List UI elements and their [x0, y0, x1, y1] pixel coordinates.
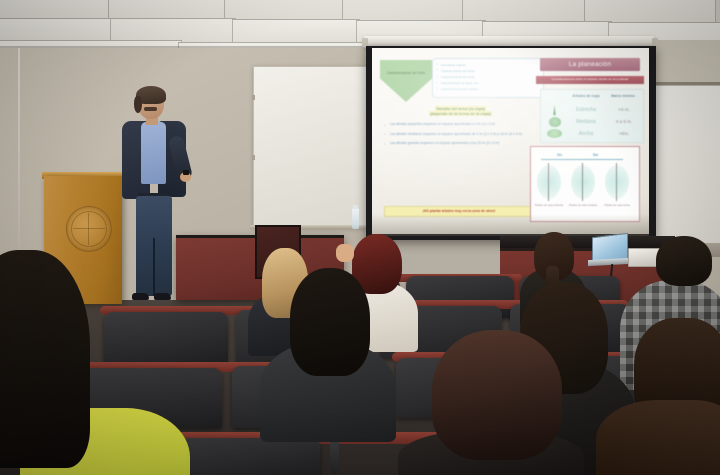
presentation-clicker [183, 170, 189, 175]
site-factors-list: Normativa vigente Características del cl… [436, 62, 540, 92]
table-row: Mediana 4 a 6 m. [541, 116, 643, 128]
presenter-mustache [144, 107, 157, 111]
diagram-dimension-label: 5m [593, 153, 598, 157]
presenter [110, 88, 202, 318]
crown-size-heading-line2: (depende de la forma de la copa) [429, 111, 492, 116]
bottle-cap-icon [353, 205, 358, 209]
armrest [330, 440, 339, 474]
crown-spacing-table: Árboles de copa Marco mínimo Estrecha <4… [540, 89, 644, 143]
warning-callout: ¡NO plantar árboles muy cerca unos de ot… [384, 206, 534, 217]
wall-right-whiteboard [652, 85, 720, 245]
table-row: Estrecha <4 m. [541, 104, 643, 116]
attendee-hair [0, 250, 90, 468]
site-factors-box: Normativa vigente Características del cl… [432, 58, 544, 98]
diagram-caption: Árboles de copa ancha [602, 204, 632, 207]
diagram-dimension-label: 5m [557, 153, 562, 157]
institutional-seal [66, 206, 112, 252]
attendee-hair [596, 400, 720, 475]
wide-tree-icon [547, 129, 562, 138]
spacing-bullets: Los árboles pequeños requieren un espaci… [384, 122, 534, 151]
table-cell-crown: Ancha [563, 128, 609, 140]
slide-content: Características del sitio Normativa vige… [372, 48, 649, 234]
attendee-hand [336, 244, 354, 262]
table-cell-crown: Mediana [563, 116, 609, 128]
list-item: Los árboles grandes requieren un espacio… [384, 141, 534, 146]
slide-title-bar: La planeación [540, 58, 640, 71]
table-cell-spacing: >6m. [607, 128, 641, 140]
spacing-diagram: 5m 5m Árboles de copa estrecha Árboles d… [530, 146, 640, 222]
list-item: Características del espacio [436, 86, 540, 92]
whiteboard [253, 66, 383, 228]
crown-size-heading: Tamaño del árbol (la copa) (depende de l… [398, 106, 523, 117]
chevron-label: Características del sitio [382, 71, 430, 75]
lecture-hall-photo: Características del sitio Normativa vige… [0, 0, 720, 475]
attendee-hair [656, 236, 712, 286]
list-item: Los árboles pequeños requieren un espaci… [384, 122, 534, 127]
presenter-ponytail [134, 96, 142, 113]
table-header-crown: Árboles de copa [567, 94, 605, 98]
narrow-tree-icon [551, 105, 558, 115]
table-cell-crown: Estrecha [563, 104, 609, 116]
presenter-shirt [141, 122, 166, 184]
table-header-spacing: Marco mínimo [607, 94, 639, 98]
list-item: Los árboles medianos requieren un espaci… [384, 132, 534, 137]
diagram-caption: Árboles de copa mediana [568, 204, 598, 207]
attendee-hair [432, 330, 562, 460]
table-cell-spacing: <4 m. [607, 104, 641, 116]
projection-screen: Características del sitio Normativa vige… [372, 48, 649, 234]
site-characteristics-chevron: Características del sitio [380, 60, 432, 104]
slide-subtitle: Consideraciones sobre el espacio donde s… [536, 76, 644, 84]
medium-tree-icon [549, 117, 561, 127]
presenter-shoe-left [132, 293, 149, 300]
presenter-shoe-right [154, 293, 171, 300]
slide-title: La planeación [540, 58, 640, 71]
table-row: Ancha >6m. [541, 128, 643, 140]
diagram-caption: Árboles de copa estrecha [534, 204, 564, 207]
table-cell-spacing: 4 a 6 m. [607, 116, 641, 128]
attendee-hair [290, 268, 370, 376]
water-bottle [352, 208, 359, 229]
slide-subtitle-bar: Consideraciones sobre el espacio donde s… [536, 76, 644, 84]
crown-size-heading-line1: Tamaño del árbol (la copa) [435, 106, 486, 111]
seat [104, 312, 228, 364]
